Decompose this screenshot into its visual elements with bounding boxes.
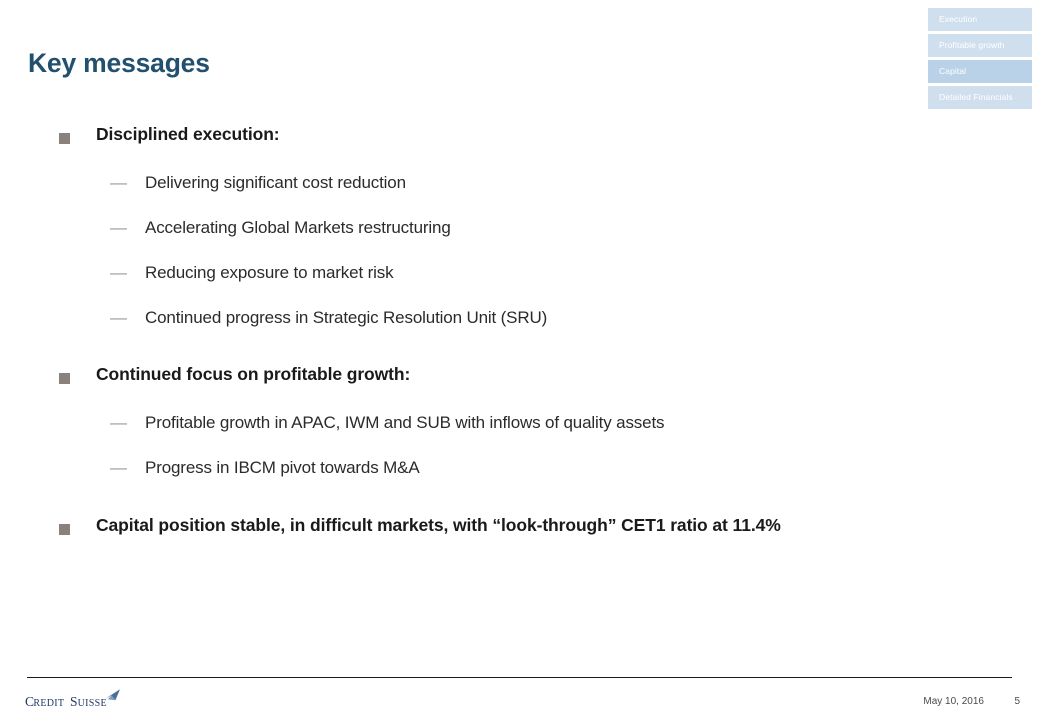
bullet-level2-text: Progress in IBCM pivot towards M&A — [145, 458, 420, 477]
section-nav-item-capital[interactable]: Capital — [928, 60, 1032, 83]
square-bullet-icon — [59, 524, 70, 535]
bullet-level1-text: Continued focus on profitable growth: — [96, 364, 410, 384]
bullet-level1-text: Capital position stable, in difficult ma… — [96, 515, 781, 535]
section-nav-label: Detailed Financials — [939, 92, 1013, 102]
content-block: Capital position stable, in difficult ma… — [0, 515, 1040, 545]
em-dash-icon: — — [110, 218, 127, 238]
bullet-level1: Disciplined execution: — [0, 124, 1040, 154]
bullet-level2: — Continued progress in Strategic Resolu… — [0, 308, 1040, 334]
bullet-level2: — Profitable growth in APAC, IWM and SUB… — [0, 413, 1040, 439]
content-block: Continued focus on profitable growth: — … — [0, 364, 1040, 484]
bullet-level2-text: Delivering significant cost reduction — [145, 173, 406, 192]
bullet-level2: — Delivering significant cost reduction — [0, 173, 1040, 199]
section-nav-label: Execution — [939, 14, 977, 24]
square-bullet-icon — [59, 133, 70, 144]
em-dash-icon: — — [110, 173, 127, 193]
bullet-level2: — Accelerating Global Markets restructur… — [0, 218, 1040, 244]
em-dash-icon: — — [110, 308, 127, 328]
section-nav-item-profitable-growth[interactable]: Profitable growth — [928, 34, 1032, 57]
em-dash-icon: — — [110, 413, 127, 433]
bullet-level1-text: Disciplined execution: — [96, 124, 280, 144]
bullet-level2-text: Continued progress in Strategic Resoluti… — [145, 308, 547, 327]
footer-divider — [27, 677, 1012, 678]
bullet-level1: Capital position stable, in difficult ma… — [0, 515, 1040, 545]
section-nav-label: Profitable growth — [939, 40, 1004, 50]
bullet-level2: — Reducing exposure to market risk — [0, 263, 1040, 289]
square-bullet-icon — [59, 373, 70, 384]
bullet-level2-text: Reducing exposure to market risk — [145, 263, 393, 282]
page-number: 5 — [1010, 696, 1020, 707]
footer-date: May 10, 2016 — [923, 696, 984, 707]
footer-meta: May 10, 2016 5 — [860, 696, 1020, 707]
slide-canvas: Execution Profitable growth Capital Deta… — [0, 0, 1040, 720]
section-navigation: Execution Profitable growth Capital Deta… — [928, 8, 1032, 109]
svg-text:UISSE: UISSE — [78, 698, 107, 709]
credit-suisse-logo: C REDIT S UISSE — [25, 686, 130, 712]
svg-text:REDIT: REDIT — [33, 698, 64, 709]
em-dash-icon: — — [110, 263, 127, 283]
section-nav-item-detailed-financials[interactable]: Detailed Financials — [928, 86, 1032, 109]
bullet-level2: — Progress in IBCM pivot towards M&A — [0, 458, 1040, 484]
slide-body: Disciplined execution: — Delivering sign… — [0, 124, 1040, 545]
page-title: Key messages — [28, 48, 210, 79]
em-dash-icon: — — [110, 458, 127, 478]
section-nav-item-execution[interactable]: Execution — [928, 8, 1032, 31]
section-nav-label: Capital — [939, 66, 966, 76]
bullet-level2-text: Accelerating Global Markets restructurin… — [145, 218, 451, 237]
content-block: Disciplined execution: — Delivering sign… — [0, 124, 1040, 334]
bullet-level1: Continued focus on profitable growth: — [0, 364, 1040, 394]
bullet-level2-text: Profitable growth in APAC, IWM and SUB w… — [145, 413, 664, 432]
